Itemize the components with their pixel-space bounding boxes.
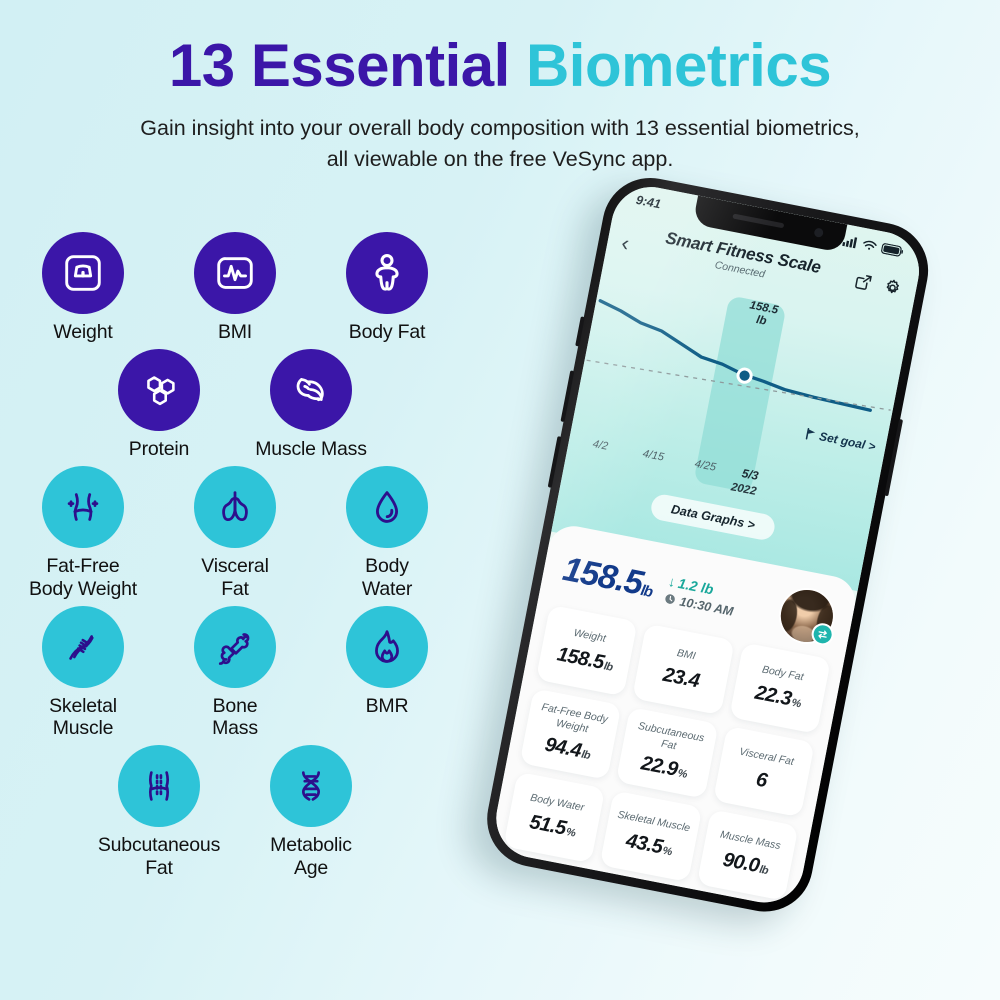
biometric-item-muscle-mass[interactable]: Muscle Mass — [246, 349, 376, 460]
metric-name: Subcutaneous Fat — [627, 719, 713, 759]
metric-value-row: 43.5% — [624, 829, 674, 860]
lungs-icon — [194, 466, 276, 548]
metric-value-row: 90.0lb — [721, 848, 771, 879]
phone-mockup: 9:41 — [479, 170, 937, 920]
scale-icon — [42, 232, 124, 314]
hero-section: 13 Essential Biometrics Gain insight int… — [0, 0, 1000, 174]
metric-tile[interactable]: Protein 17.7% — [584, 874, 686, 909]
biometric-label: Body Water — [322, 555, 452, 599]
waist-icon — [42, 466, 124, 548]
biometric-label: Body Fat — [322, 321, 452, 343]
dna-icon — [270, 745, 352, 827]
current-weight-unit: lb — [639, 582, 653, 601]
metric-unit: % — [677, 767, 688, 781]
metric-value: 90.0 — [721, 848, 761, 878]
biometrics-row-5: Subcutaneous Fat Metabolic Age — [0, 745, 470, 878]
biometrics-row-4: Skeletal Muscle Bone Mass BMR — [0, 606, 470, 739]
x-tick-2: 4/25 — [694, 458, 717, 474]
page-title: 13 Essential Biometrics — [0, 34, 1000, 97]
biometric-label: Protein — [94, 438, 224, 460]
gear-icon[interactable] — [881, 277, 903, 299]
biometric-label: BMR — [322, 695, 452, 717]
metric-value: 51.5 — [528, 811, 568, 841]
metric-value-row: 51.5% — [528, 811, 578, 842]
metric-tile[interactable]: Body Fat 22.3% — [729, 642, 831, 734]
metric-unit: % — [662, 844, 673, 858]
biometric-label: Muscle Mass — [246, 438, 376, 460]
metric-value-row: 6 — [754, 768, 770, 793]
metric-tile[interactable]: Skeletal Muscle 43.5% — [600, 790, 702, 882]
clock-icon — [664, 593, 677, 606]
biometric-item-body-fat[interactable]: Body Fat — [322, 232, 452, 343]
biometric-label: BMI — [170, 321, 300, 343]
metric-unit: lb — [758, 863, 769, 876]
biometrics-icon-grid: Weight BMI Body Fat — [0, 232, 470, 885]
biometric-item-metabolic-age[interactable]: Metabolic Age — [246, 745, 376, 878]
metric-value-row: 5.8lb — [517, 895, 556, 909]
metric-name: Fat-Free Body Weight — [530, 700, 616, 740]
page-title-part-2: Biometrics — [526, 32, 831, 99]
biometric-label: Skeletal Muscle — [18, 695, 148, 739]
biometric-item-fat-free-body-weight[interactable]: Fat-Free Body Weight — [18, 466, 148, 599]
mute-switch[interactable] — [575, 316, 585, 346]
battery-icon — [881, 242, 905, 257]
x-tick-0: 4/2 — [592, 438, 609, 453]
metrics-sheet: 158.5lb ↓ 1.2 lb 10:30 AM — [489, 522, 859, 909]
app-top-section: 9:41 — [551, 180, 926, 591]
biometric-item-bone-mass[interactable]: Bone Mass — [170, 606, 300, 739]
status-bar-icons — [842, 235, 904, 257]
volume-down-button[interactable] — [548, 436, 562, 488]
page-subtitle: Gain insight into your overall body comp… — [130, 113, 870, 174]
chart-highlight-unit: lb — [755, 314, 767, 328]
metric-tile[interactable]: Muscle Mass 90.0lb — [696, 809, 798, 901]
water-drop-icon — [346, 466, 428, 548]
metric-tile[interactable]: Bone Mass 5.8lb — [489, 855, 589, 909]
current-weight: 158.5lb — [560, 552, 656, 603]
metric-name: Protein — [620, 896, 655, 909]
metric-value-row: 94.4lb — [543, 733, 593, 764]
earpiece-speaker — [732, 214, 784, 229]
metric-name: Bone Mass — [514, 876, 568, 898]
metric-value-row: 22.9% — [639, 752, 689, 783]
metric-value-row: 158.5lb — [555, 643, 615, 676]
x-tick-3: 5/3 — [741, 466, 760, 483]
biometric-item-visceral-fat[interactable]: Visceral Fat — [170, 466, 300, 599]
biometric-label: Bone Mass — [170, 695, 300, 739]
flexed-arm-icon — [270, 349, 352, 431]
metric-tile[interactable]: Fat-Free Body Weight 94.4lb — [520, 688, 622, 780]
biometrics-row-3: Fat-Free Body Weight Visceral Fat Body W… — [0, 466, 470, 599]
metric-unit: lb — [603, 660, 614, 673]
biometrics-row-1: Weight BMI Body Fat — [0, 232, 470, 343]
metric-name: BMI — [676, 647, 697, 662]
metric-value: 22.3 — [753, 681, 793, 711]
x-tick-1: 4/15 — [642, 448, 665, 464]
metric-value: 94.4 — [543, 733, 583, 763]
metric-unit: % — [565, 826, 576, 840]
body-figure-icon — [346, 232, 428, 314]
metric-name: Visceral Fat — [738, 746, 795, 768]
skin-fold-icon — [118, 745, 200, 827]
metric-tile[interactable]: Visceral Fat 6 — [713, 726, 815, 818]
biometric-label: Fat-Free Body Weight — [18, 555, 148, 599]
biometrics-row-2: Protein Muscle Mass — [0, 349, 470, 460]
metric-name: Body Fat — [761, 664, 805, 684]
metric-value-row: 23.4 — [661, 663, 702, 693]
front-camera — [813, 227, 824, 238]
metric-unit: lb — [544, 908, 555, 909]
metric-unit: % — [790, 696, 801, 710]
biometric-item-protein[interactable]: Protein — [94, 349, 224, 460]
metric-tile[interactable]: Weight 158.5lb — [536, 605, 638, 697]
page-title-part-1: 13 Essential — [169, 32, 526, 99]
metric-value: 5.8 — [517, 895, 547, 909]
volume-up-button[interactable] — [560, 370, 574, 422]
metric-value: 158.5 — [555, 643, 606, 675]
biometric-label: Visceral Fat — [170, 555, 300, 599]
metric-tile[interactable]: BMI 23.4 — [632, 624, 734, 716]
biometric-item-body-water[interactable]: Body Water — [322, 466, 452, 599]
metric-value: 43.5 — [624, 829, 664, 859]
wifi-icon — [862, 238, 878, 251]
muscle-fiber-icon — [42, 606, 124, 688]
metric-tile[interactable]: Subcutaneous Fat 22.9% — [616, 707, 718, 799]
metric-unit: lb — [580, 748, 591, 761]
phone-screen: 9:41 — [489, 180, 925, 909]
current-weight-value: 158.5 — [560, 550, 646, 603]
flame-icon — [346, 606, 428, 688]
metric-value: 22.9 — [639, 752, 679, 782]
metric-name: Weight — [573, 627, 607, 645]
metric-tile[interactable]: Body Water 51.5% — [503, 772, 605, 864]
avatar[interactable] — [776, 585, 837, 646]
metrics-grid: Weight 158.5lb BMI 23.4 Body Fat 22.3% F… — [489, 605, 831, 909]
status-bar-time: 9:41 — [635, 193, 662, 212]
biometric-item-bmr[interactable]: BMR — [322, 606, 452, 739]
metric-value: 6 — [754, 768, 769, 793]
phone-body: 9:41 — [479, 170, 937, 920]
biometric-item-bmi[interactable]: BMI — [170, 232, 300, 343]
weight-delta-block: ↓ 1.2 lb 10:30 AM — [664, 573, 738, 619]
metric-value-row: 22.3% — [753, 681, 803, 712]
biometric-label: Weight — [18, 321, 148, 343]
metric-value: 23.4 — [661, 663, 701, 693]
bmi-chart-icon — [194, 232, 276, 314]
flag-icon — [805, 427, 818, 441]
molecule-icon — [118, 349, 200, 431]
biometric-item-weight[interactable]: Weight — [18, 232, 148, 343]
share-icon[interactable] — [852, 271, 874, 293]
biometric-label: Metabolic Age — [246, 834, 376, 878]
header-actions — [852, 271, 904, 299]
down-arrow-icon: ↓ — [667, 573, 677, 590]
biometric-label: Subcutaneous Fat — [94, 834, 224, 878]
biometric-item-subcutaneous-fat[interactable]: Subcutaneous Fat — [94, 745, 224, 878]
bone-joint-icon — [194, 606, 276, 688]
biometric-item-skeletal-muscle[interactable]: Skeletal Muscle — [18, 606, 148, 739]
